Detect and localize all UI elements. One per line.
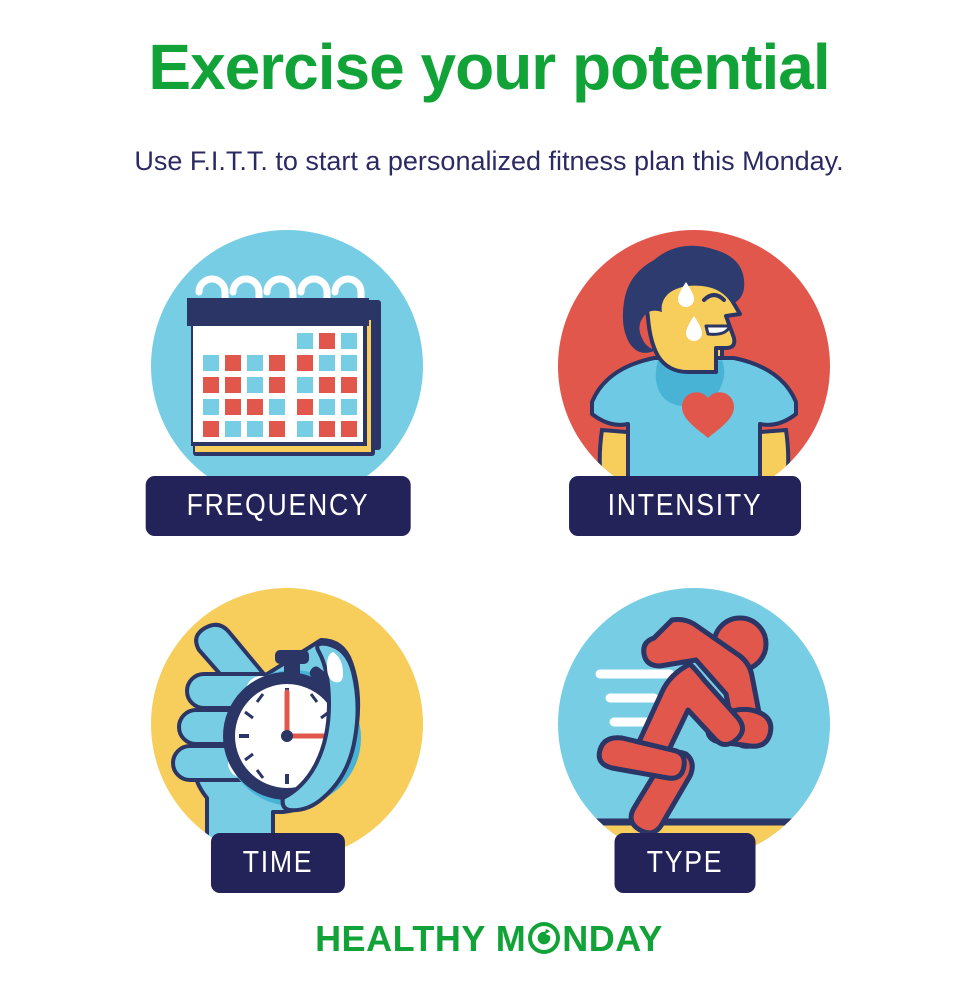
card-label-frequency[interactable]: FREQUENCY (146, 476, 411, 536)
brand-logo-text-before: HEALTHY M (315, 918, 526, 959)
brand-logo[interactable]: HEALTHY M NDAY (0, 918, 978, 964)
card-intensity[interactable]: INTENSITY (535, 222, 835, 552)
page-title: Exercise your potential (0, 34, 978, 101)
refresh-circle-icon (527, 921, 561, 964)
brand-logo-text-after: NDAY (562, 918, 663, 959)
sweating-person-icon (558, 230, 830, 502)
calendar-icon (151, 230, 423, 502)
running-person-icon (558, 588, 830, 860)
card-label-frequency-text: FREQUENCY (187, 487, 370, 523)
infographic-canvas: Exercise your potential Use F.I.T.T. to … (0, 0, 978, 998)
card-label-time-text: TIME (243, 844, 314, 880)
hand-holding-stopwatch-icon (151, 588, 423, 860)
card-label-intensity[interactable]: INTENSITY (569, 476, 801, 536)
card-label-type-text: TYPE (647, 844, 724, 880)
card-frequency[interactable]: FREQUENCY (128, 222, 428, 552)
card-time[interactable]: TIME (128, 580, 428, 910)
page-subtitle: Use F.I.T.T. to start a personalized fit… (0, 146, 978, 177)
card-label-time[interactable]: TIME (211, 833, 345, 893)
card-type[interactable]: TYPE (535, 580, 835, 910)
card-label-type[interactable]: TYPE (615, 833, 756, 893)
card-label-intensity-text: INTENSITY (608, 487, 763, 523)
